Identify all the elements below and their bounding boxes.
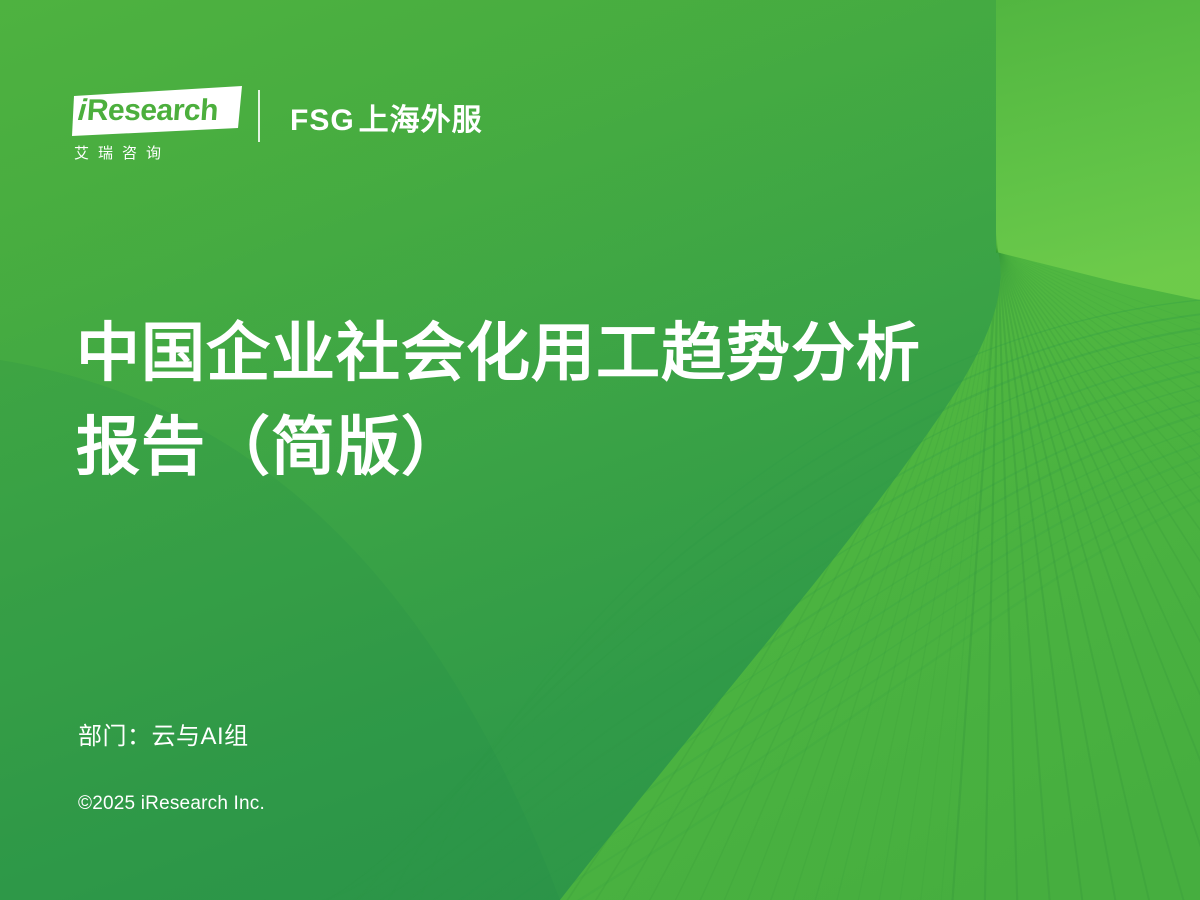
logo-lockup: iResearch 艾瑞咨询 FSG上海外服 — [72, 86, 483, 174]
page-title-line-1: 中国企业社会化用工趋势分析 — [76, 306, 1076, 400]
page-title: 中国企业社会化用工趋势分析 报告（简版） — [76, 306, 1076, 494]
logo-divider — [258, 90, 260, 142]
iresearch-chinese-name: 艾瑞咨询 — [74, 142, 242, 163]
page-title-line-2: 报告（简版） — [76, 400, 1076, 494]
iresearch-wordmark-rest: Research — [86, 94, 219, 128]
department-label: 部门：云与AI组 — [78, 716, 249, 751]
iresearch-logo: iResearch 艾瑞咨询 — [72, 86, 244, 174]
copyright-notice: ©2025 iResearch Inc. — [78, 793, 265, 815]
fsg-logo-latin: FSG — [290, 104, 355, 137]
report-cover-slide: iResearch 艾瑞咨询 FSG上海外服 中国企业社会化用工趋势分析 报告（… — [0, 0, 1200, 900]
iresearch-wordmark: iResearch — [77, 91, 240, 131]
fsg-logo-chinese: 上海外服 — [359, 104, 483, 137]
slide-content: iResearch 艾瑞咨询 FSG上海外服 中国企业社会化用工趋势分析 报告（… — [0, 0, 1200, 900]
fsg-partner-logo: FSG上海外服 — [290, 95, 483, 139]
